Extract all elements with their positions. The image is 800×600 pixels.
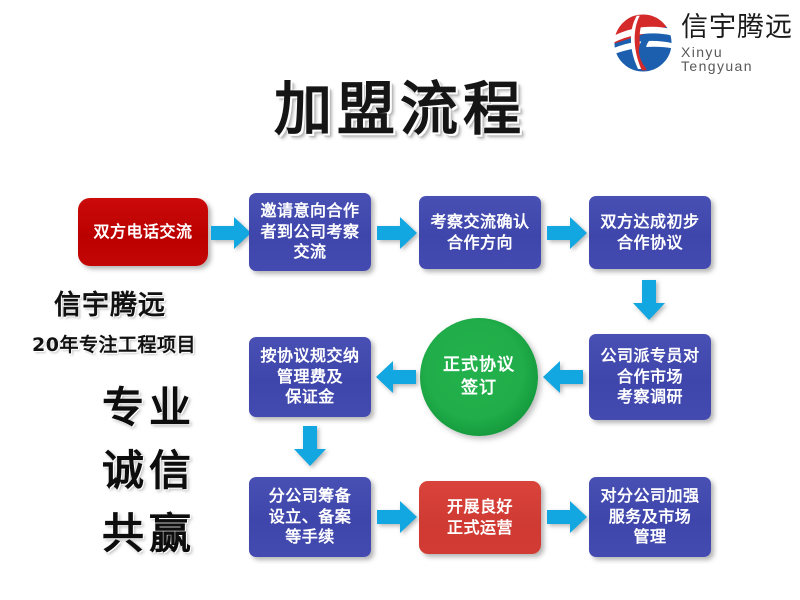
arrow-down-icon — [632, 279, 666, 321]
node-line: 正式协议 — [443, 354, 515, 377]
node-line: 考察调研 — [617, 387, 683, 407]
arrow-right-icon — [376, 216, 418, 250]
node-line: 管理费及 — [277, 367, 343, 387]
logo-name-cn: 信宇腾远 — [681, 14, 796, 41]
flow-node-invite-visit[interactable]: 邀请意向合作 者到公司考察 交流 — [249, 193, 371, 271]
node-line: 管理 — [633, 527, 666, 547]
node-line: 合作协议 — [617, 233, 683, 253]
flow-node-phone-communication[interactable]: 双方电话交流 — [78, 198, 208, 266]
sidebar-slogan-1: 专业 — [64, 374, 234, 435]
flow-node-pay-management-fee[interactable]: 按协议规交纳 管理费及 保证金 — [249, 337, 371, 417]
arrow-right-icon — [546, 216, 588, 250]
arrow-right-icon — [376, 500, 418, 534]
node-line: 邀请意向合作 — [260, 201, 359, 221]
sidebar-tagline: 20年专注工程项目 — [32, 330, 196, 357]
node-line: 分公司筹备 — [269, 486, 352, 506]
sidebar-company-name: 信宇腾远 — [54, 283, 166, 322]
flow-node-formal-agreement-signing[interactable]: 正式协议 签订 — [420, 318, 538, 436]
sidebar-slogan-2: 诚信 — [64, 437, 234, 498]
node-line: 考察交流确认 — [430, 212, 529, 232]
flow-node-market-research[interactable]: 公司派专员对 合作市场 考察调研 — [589, 334, 711, 420]
node-line: 合作方向 — [447, 233, 513, 253]
node-line: 对分公司加强 — [600, 486, 699, 506]
arrow-down-icon — [293, 425, 327, 467]
node-line: 双方电话交流 — [93, 222, 192, 242]
node-line: 等手续 — [285, 527, 335, 547]
node-line: 合作市场 — [617, 367, 683, 387]
sidebar-slogan-3: 共赢 — [64, 500, 234, 561]
node-line: 服务及市场 — [609, 507, 692, 527]
page-title: 加盟流程 — [0, 62, 800, 146]
node-line: 公司派专员对 — [600, 346, 699, 366]
node-line: 双方达成初步 — [600, 212, 699, 232]
flow-node-preliminary-agreement[interactable]: 双方达成初步 合作协议 — [589, 196, 711, 269]
node-line: 签订 — [461, 377, 497, 400]
arrow-right-icon — [546, 500, 588, 534]
flow-node-branch-setup[interactable]: 分公司筹备 设立、备案 等手续 — [249, 477, 371, 557]
node-line: 开展良好 — [447, 497, 513, 517]
node-line: 交流 — [293, 242, 326, 262]
slide-canvas: 信宇腾远 Xinyu Tengyuan 加盟流程 信宇腾远 20年专注工程项目 … — [0, 0, 800, 600]
flow-node-ongoing-service[interactable]: 对分公司加强 服务及市场 管理 — [589, 477, 711, 557]
arrow-left-icon — [375, 360, 417, 394]
node-line: 按协议规交纳 — [260, 346, 359, 366]
node-line: 设立、备案 — [269, 507, 352, 527]
flow-node-confirm-direction[interactable]: 考察交流确认 合作方向 — [419, 196, 541, 269]
flow-node-formal-operation[interactable]: 开展良好 正式运营 — [419, 481, 541, 554]
node-line: 保证金 — [285, 387, 335, 407]
arrow-right-icon — [210, 216, 252, 250]
node-line: 正式运营 — [447, 518, 513, 538]
arrow-left-icon — [542, 360, 584, 394]
node-line: 者到公司考察 — [260, 222, 359, 242]
